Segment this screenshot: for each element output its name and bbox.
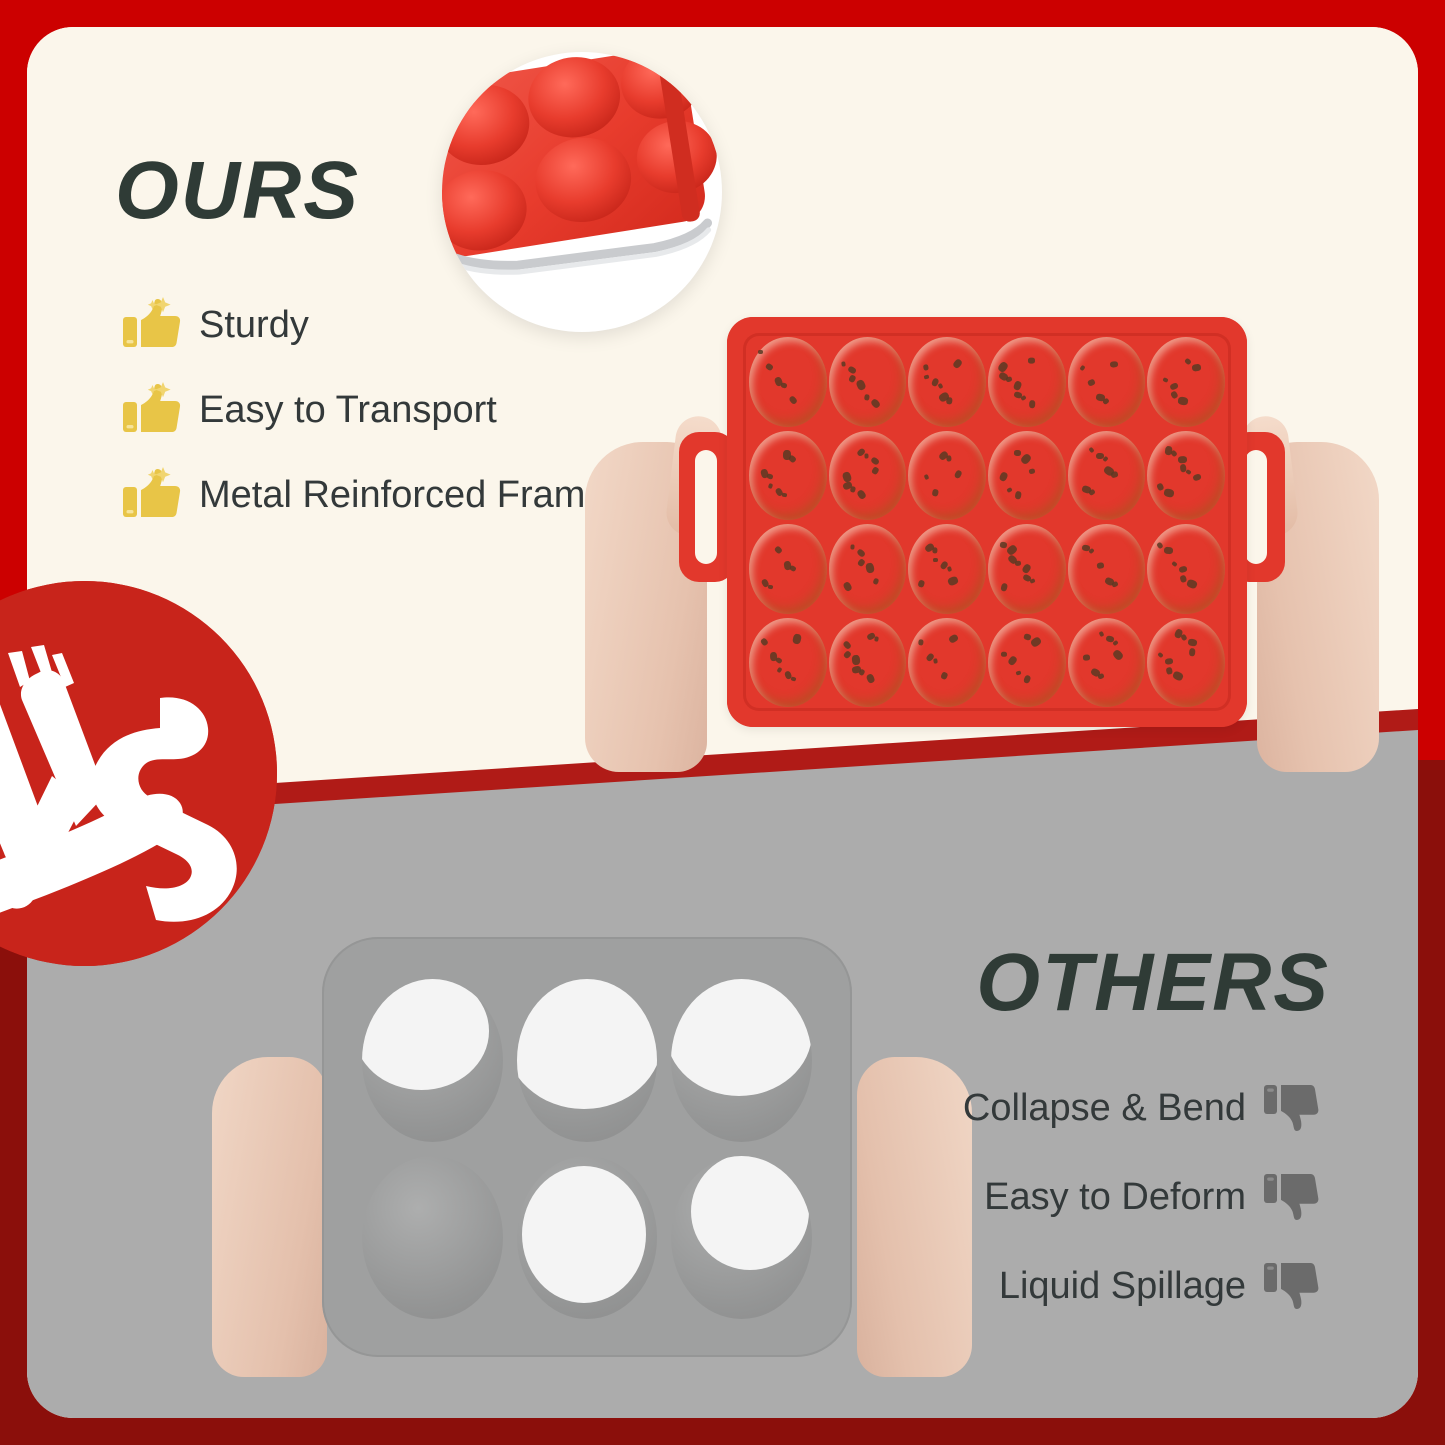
- chocolate-chip: [1013, 391, 1022, 399]
- chocolate-chip: [851, 545, 855, 550]
- chocolate-chip: [1006, 487, 1012, 493]
- chocolate-chip: [871, 466, 879, 475]
- chocolate-chip: [1007, 655, 1018, 667]
- muffin: [908, 337, 986, 427]
- batter-spill: [691, 1156, 809, 1270]
- chocolate-chip: [788, 395, 798, 405]
- chocolate-chip: [776, 666, 782, 672]
- chocolate-chip: [1029, 636, 1042, 648]
- chocolate-chip: [1172, 670, 1185, 682]
- chocolate-chip: [864, 394, 870, 401]
- muffin: [988, 337, 1066, 427]
- chocolate-chip: [952, 358, 963, 370]
- muffin: [749, 618, 827, 708]
- product-closeup-inset: [442, 52, 722, 332]
- gray-floppy-muffin-mold: [322, 937, 852, 1357]
- chocolate-chip: [953, 469, 962, 479]
- chocolate-chip: [1187, 638, 1197, 647]
- chocolate-chip: [774, 546, 783, 555]
- chocolate-chip: [1021, 563, 1032, 574]
- chocolate-chip: [923, 374, 929, 379]
- muffin: [829, 337, 907, 427]
- muffin: [829, 618, 907, 708]
- chocolate-chip: [947, 566, 952, 572]
- chocolate-chip: [1028, 400, 1035, 408]
- others-product-image: [212, 917, 972, 1397]
- infographic-canvas: OURS Sturdy: [0, 0, 1445, 1445]
- mold-well: [362, 979, 503, 1142]
- chocolate-chip: [761, 637, 770, 646]
- chocolate-chip: [998, 471, 1008, 482]
- chocolate-chip: [1110, 361, 1119, 368]
- chocolate-chip: [933, 558, 938, 562]
- mold-well-grid: [362, 979, 812, 1319]
- chocolate-chip: [923, 364, 929, 371]
- chocolate-chip: [1185, 469, 1191, 475]
- vs-badge: [0, 581, 277, 966]
- chocolate-chip: [1087, 379, 1096, 387]
- thumbs-up-sparkle-icon: [123, 382, 185, 438]
- left-hand: [212, 1057, 327, 1377]
- chocolate-chip: [1186, 579, 1198, 590]
- batter-spill: [522, 1166, 646, 1303]
- feature-label: Easy to Transport: [199, 389, 497, 432]
- chocolate-chip: [1000, 541, 1008, 548]
- thumbs-down-icon: [1264, 1259, 1322, 1313]
- chocolate-chip: [1162, 377, 1168, 383]
- muffin: [749, 524, 827, 614]
- list-item: Liquid Spillage: [963, 1260, 1322, 1312]
- chocolate-chip: [919, 639, 924, 646]
- others-drawback-list: Collapse & Bend Easy to Deform: [963, 1082, 1322, 1349]
- chocolate-chip: [1178, 455, 1187, 462]
- chocolate-chip: [1014, 491, 1022, 500]
- muffin: [1068, 524, 1146, 614]
- muffin: [988, 618, 1066, 708]
- chocolate-chip: [1014, 450, 1021, 456]
- drawback-label: Easy to Deform: [984, 1176, 1246, 1219]
- chocolate-chip: [865, 453, 869, 458]
- muffin: [908, 431, 986, 521]
- chocolate-chip: [765, 362, 774, 371]
- chocolate-chip: [1012, 380, 1022, 391]
- feature-label: Metal Reinforced Frame: [199, 474, 607, 517]
- chocolate-chip: [1112, 648, 1125, 661]
- muffin: [908, 524, 986, 614]
- chocolate-chip: [932, 488, 939, 496]
- list-item: Collapse & Bend: [963, 1082, 1322, 1134]
- chocolate-chip: [870, 456, 880, 466]
- thumbs-up-sparkle-icon: [123, 467, 185, 523]
- batter-spill: [671, 979, 812, 1096]
- batter-spill: [362, 979, 489, 1090]
- chocolate-chip: [1163, 488, 1175, 498]
- muffin: [1147, 431, 1225, 521]
- chocolate-chip: [1169, 381, 1179, 390]
- muffin: [1147, 337, 1225, 427]
- mold-well: [362, 1156, 503, 1319]
- chocolate-chip: [937, 382, 943, 388]
- drawback-label: Liquid Spillage: [999, 1265, 1246, 1308]
- chocolate-chip: [947, 634, 958, 645]
- chocolate-chip: [947, 575, 959, 586]
- chocolate-chip: [792, 633, 802, 645]
- right-hand: [857, 1057, 972, 1377]
- chocolate-chip: [1166, 666, 1173, 674]
- chocolate-chip: [1157, 652, 1163, 658]
- chocolate-chip: [1180, 575, 1187, 583]
- chocolate-chip: [1192, 473, 1202, 482]
- drawback-label: Collapse & Bend: [963, 1087, 1246, 1130]
- chocolate-chip: [933, 658, 938, 664]
- chocolate-chip: [1097, 563, 1105, 570]
- chocolate-chip: [1164, 547, 1173, 555]
- chocolate-chip: [1170, 391, 1178, 400]
- chocolate-chip: [758, 350, 763, 354]
- chocolate-chip: [855, 379, 866, 391]
- mold-well: [517, 1156, 658, 1319]
- chocolate-chip: [1157, 541, 1164, 549]
- chocolate-chip: [856, 548, 866, 558]
- muffin: [988, 431, 1066, 521]
- muffin-grid: [749, 337, 1225, 707]
- chocolate-chip: [1001, 652, 1007, 657]
- thumbs-down-icon: [1264, 1081, 1322, 1135]
- chocolate-chip: [852, 655, 861, 666]
- chocolate-chip: [873, 577, 880, 584]
- muffin: [829, 524, 907, 614]
- muffin: [1068, 618, 1146, 708]
- chocolate-chip: [1098, 631, 1104, 637]
- muffin: [749, 431, 827, 521]
- chocolate-chip: [783, 560, 792, 570]
- chocolate-chip: [1177, 396, 1188, 405]
- muffin: [988, 524, 1066, 614]
- chocolate-chip: [847, 365, 857, 375]
- chocolate-chip: [869, 397, 880, 408]
- chocolate-chip: [940, 671, 948, 680]
- chocolate-chip: [1023, 674, 1032, 684]
- others-heading: OTHERS: [976, 942, 1330, 1024]
- chocolate-chip: [1029, 468, 1036, 474]
- chocolate-chip: [1192, 363, 1202, 371]
- chocolate-chip: [1080, 364, 1086, 370]
- thumbs-down-icon: [1264, 1170, 1322, 1224]
- list-item: Easy to Deform: [963, 1171, 1322, 1223]
- chocolate-chip: [842, 640, 852, 650]
- chocolate-chip: [1023, 633, 1031, 640]
- muffin: [1147, 524, 1225, 614]
- chocolate-chip: [856, 489, 867, 501]
- thumbs-up-sparkle-icon: [123, 297, 185, 353]
- muffin: [829, 431, 907, 521]
- muffin: [1068, 431, 1146, 521]
- chocolate-chip: [917, 580, 924, 588]
- muffin: [908, 618, 986, 708]
- chocolate-chip: [1000, 582, 1008, 591]
- batter-spill: [517, 979, 658, 1109]
- chocolate-chip: [1015, 671, 1021, 676]
- chocolate-chip: [1165, 657, 1174, 664]
- chocolate-chip: [1156, 483, 1164, 492]
- chocolate-chip: [842, 581, 853, 592]
- chocolate-chip: [865, 673, 875, 684]
- ours-heading: OURS: [115, 150, 360, 232]
- muffin: [1147, 618, 1225, 708]
- muffin: [1068, 337, 1146, 427]
- chocolate-chip: [1179, 565, 1188, 573]
- mold-well: [517, 979, 658, 1142]
- chocolate-chip: [1083, 655, 1090, 661]
- chocolate-chip: [1020, 452, 1033, 465]
- chocolate-chip: [924, 474, 930, 480]
- muffin: [749, 337, 827, 427]
- chocolate-chip: [1028, 358, 1035, 364]
- feature-label: Sturdy: [199, 304, 309, 347]
- chocolate-chip: [767, 483, 772, 489]
- chocolate-chip: [841, 361, 846, 367]
- chocolate-chip: [1089, 447, 1095, 453]
- chocolate-chip: [1171, 560, 1177, 566]
- chocolate-chip: [1185, 358, 1193, 366]
- mold-well: [671, 979, 812, 1142]
- mold-well: [671, 1156, 812, 1319]
- chocolate-chip: [865, 562, 875, 574]
- chocolate-chip: [1189, 648, 1196, 657]
- ours-product-image: [567, 292, 1397, 852]
